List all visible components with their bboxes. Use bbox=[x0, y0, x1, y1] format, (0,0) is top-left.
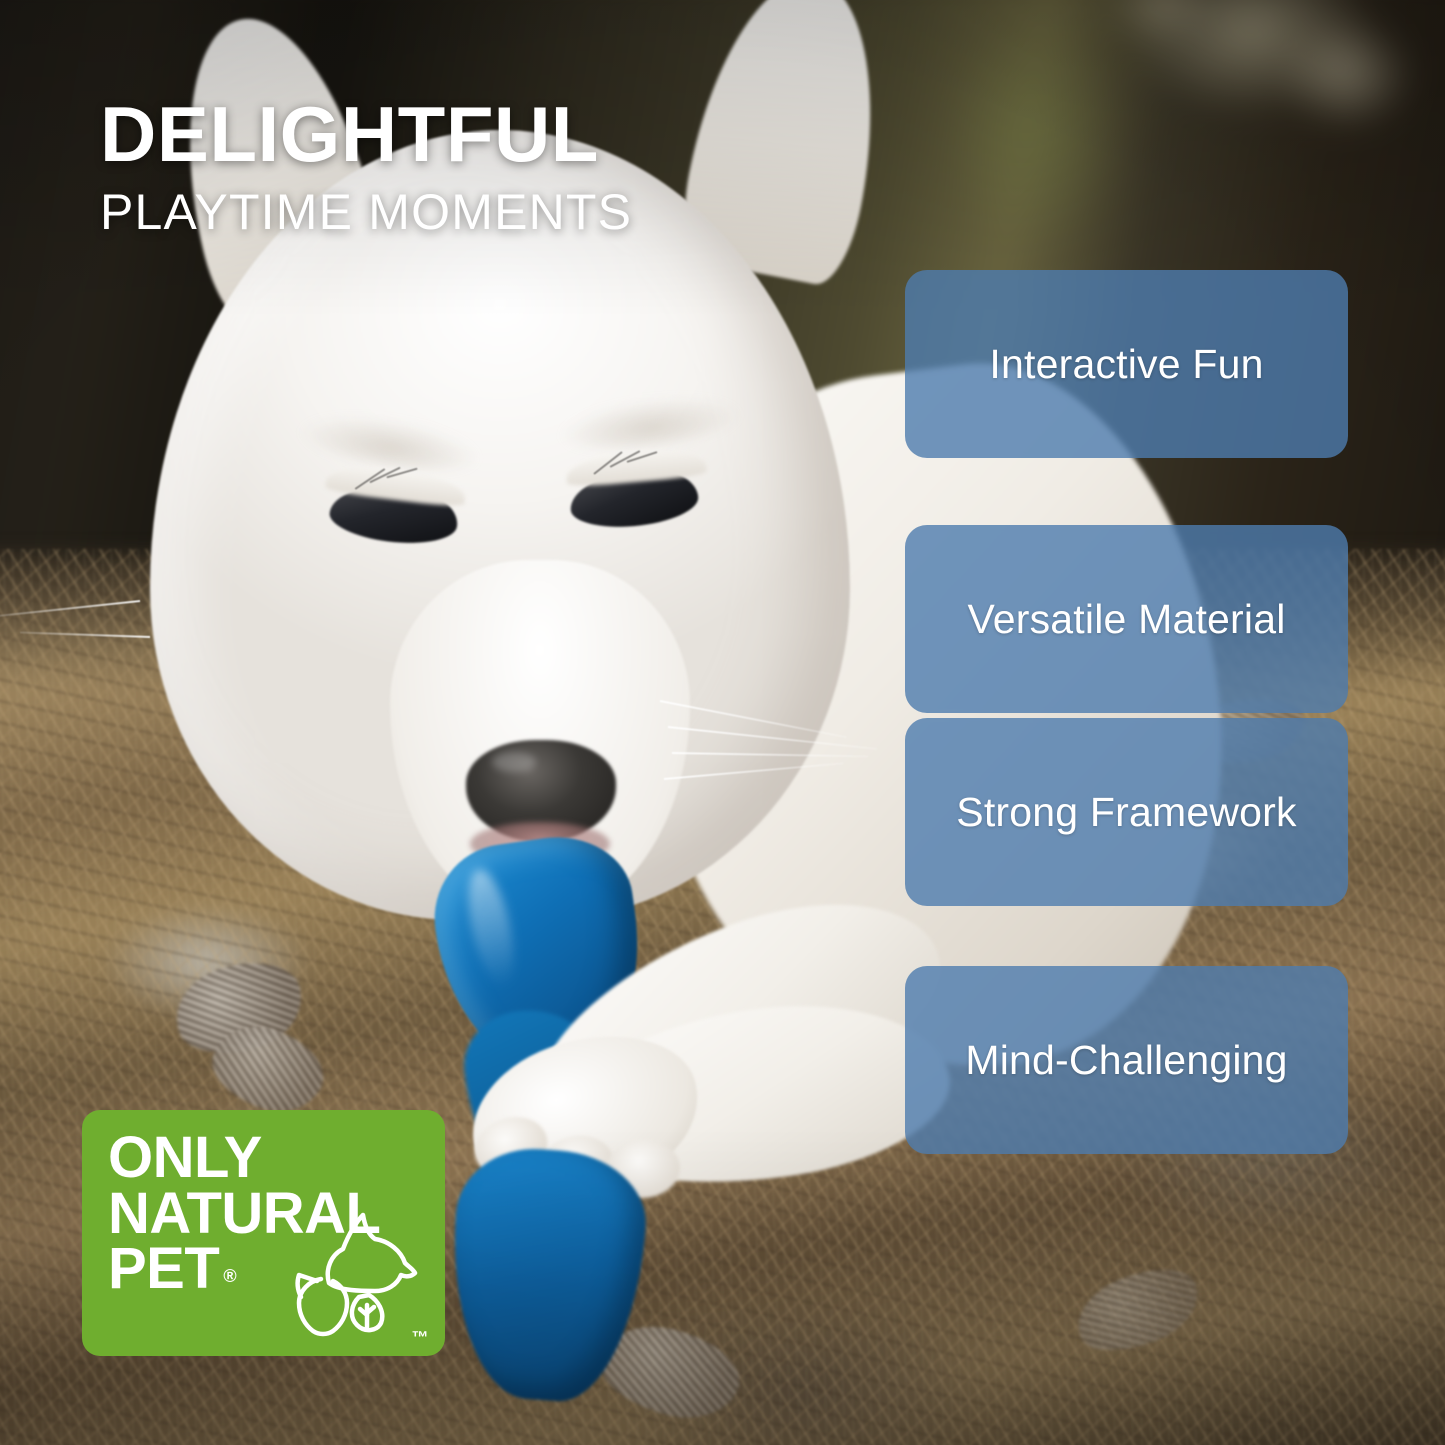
feature-card-mind-challenging[interactable]: Mind-Challenging bbox=[905, 966, 1348, 1154]
brand-word-only: ONLY bbox=[108, 1130, 380, 1186]
headline-line-2: PLAYTIME MOMENTS bbox=[100, 183, 632, 242]
feature-card-list: Interactive Fun Versatile Material Stron… bbox=[905, 270, 1348, 1154]
brand-word-pet: PET bbox=[108, 1241, 219, 1297]
dog-cat-leaf-icon bbox=[271, 1205, 421, 1340]
registered-mark: ® bbox=[223, 1266, 236, 1286]
trademark-mark: ™ bbox=[412, 1328, 430, 1348]
dog-whisker bbox=[0, 600, 140, 618]
dog-nose-highlight bbox=[492, 752, 536, 772]
feature-card-interactive-fun[interactable]: Interactive Fun bbox=[905, 270, 1348, 458]
dog-whisker bbox=[20, 631, 150, 638]
feature-card-label: Strong Framework bbox=[956, 789, 1296, 836]
product-lifestyle-poster: DELIGHTFUL PLAYTIME MOMENTS Interactive … bbox=[0, 0, 1445, 1445]
headline-line-1: DELIGHTFUL bbox=[100, 95, 632, 173]
page-title: DELIGHTFUL PLAYTIME MOMENTS bbox=[100, 95, 632, 242]
feature-card-label: Interactive Fun bbox=[989, 341, 1263, 388]
feature-card-versatile-material[interactable]: Versatile Material bbox=[905, 525, 1348, 713]
feature-card-label: Mind-Challenging bbox=[965, 1037, 1287, 1084]
feature-card-strong-framework[interactable]: Strong Framework bbox=[905, 718, 1348, 906]
brand-logo[interactable]: ONLY NATURAL PET® ™ bbox=[82, 1110, 445, 1356]
feature-card-label: Versatile Material bbox=[967, 596, 1285, 643]
